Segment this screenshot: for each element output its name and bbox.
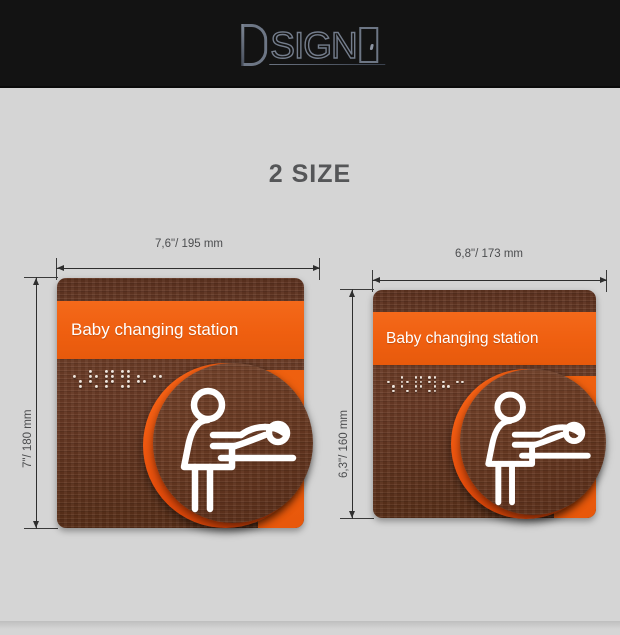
small-height-label: 6,3"/ 160 mm <box>338 410 350 478</box>
large-height-ext-top <box>24 277 58 278</box>
small-width-arrow-right <box>600 277 607 283</box>
large-height-arrow-bottom <box>33 521 39 528</box>
sign-small-wood-disc <box>460 369 606 515</box>
large-height-ext-bottom <box>24 528 58 529</box>
sign-small-text-band: Baby changing station <box>373 312 596 365</box>
large-height-dimension-line <box>36 277 37 529</box>
bottom-shadow <box>0 621 620 629</box>
sign-small[interactable]: Baby changing station <box>373 290 596 518</box>
sign-large-disc-assembly <box>143 363 308 528</box>
small-height-ext-bottom <box>340 518 374 519</box>
large-width-label: 7,6"/ 195 mm <box>155 238 223 250</box>
small-width-arrow-left <box>373 277 380 283</box>
large-width-dimension-line <box>56 268 320 269</box>
sign-small-disc-assembly <box>451 369 601 519</box>
small-width-label: 6,8"/ 173 mm <box>455 248 523 260</box>
baby-changing-station-pictogram <box>460 369 606 515</box>
sign-large-text-band: Baby changing station <box>57 301 304 359</box>
small-height-arrow-top <box>349 290 355 297</box>
large-width-arrow-left <box>57 265 64 271</box>
small-height-arrow-bottom <box>349 511 355 518</box>
site-header: SIGN <box>0 0 620 88</box>
small-width-dimension-line <box>372 280 607 281</box>
baby-changing-station-pictogram <box>153 363 313 523</box>
sign-large-title: Baby changing station <box>71 320 238 340</box>
sign-large-wood-disc <box>153 363 313 523</box>
large-height-arrow-top <box>33 278 39 285</box>
small-height-ext-top <box>340 289 374 290</box>
large-height-label: 7"/ 180 mm <box>22 410 34 468</box>
logo-door-icon <box>360 27 379 63</box>
small-height-dimension-line <box>352 289 353 519</box>
sign-large[interactable]: Baby changing station <box>57 278 304 528</box>
logo-wordmark: SIGN <box>270 27 356 65</box>
logo-letter-b-icon <box>241 24 269 66</box>
large-width-arrow-right <box>313 265 320 271</box>
sign-small-title: Baby changing station <box>386 330 539 348</box>
bsign-logo[interactable]: SIGN <box>241 22 378 66</box>
product-size-comparison: 2 SIZE 7,6"/ 195 mm 7"/ 180 mm Baby chan… <box>0 88 620 635</box>
logo-underline <box>269 64 385 66</box>
page-title: 2 SIZE <box>0 160 620 189</box>
